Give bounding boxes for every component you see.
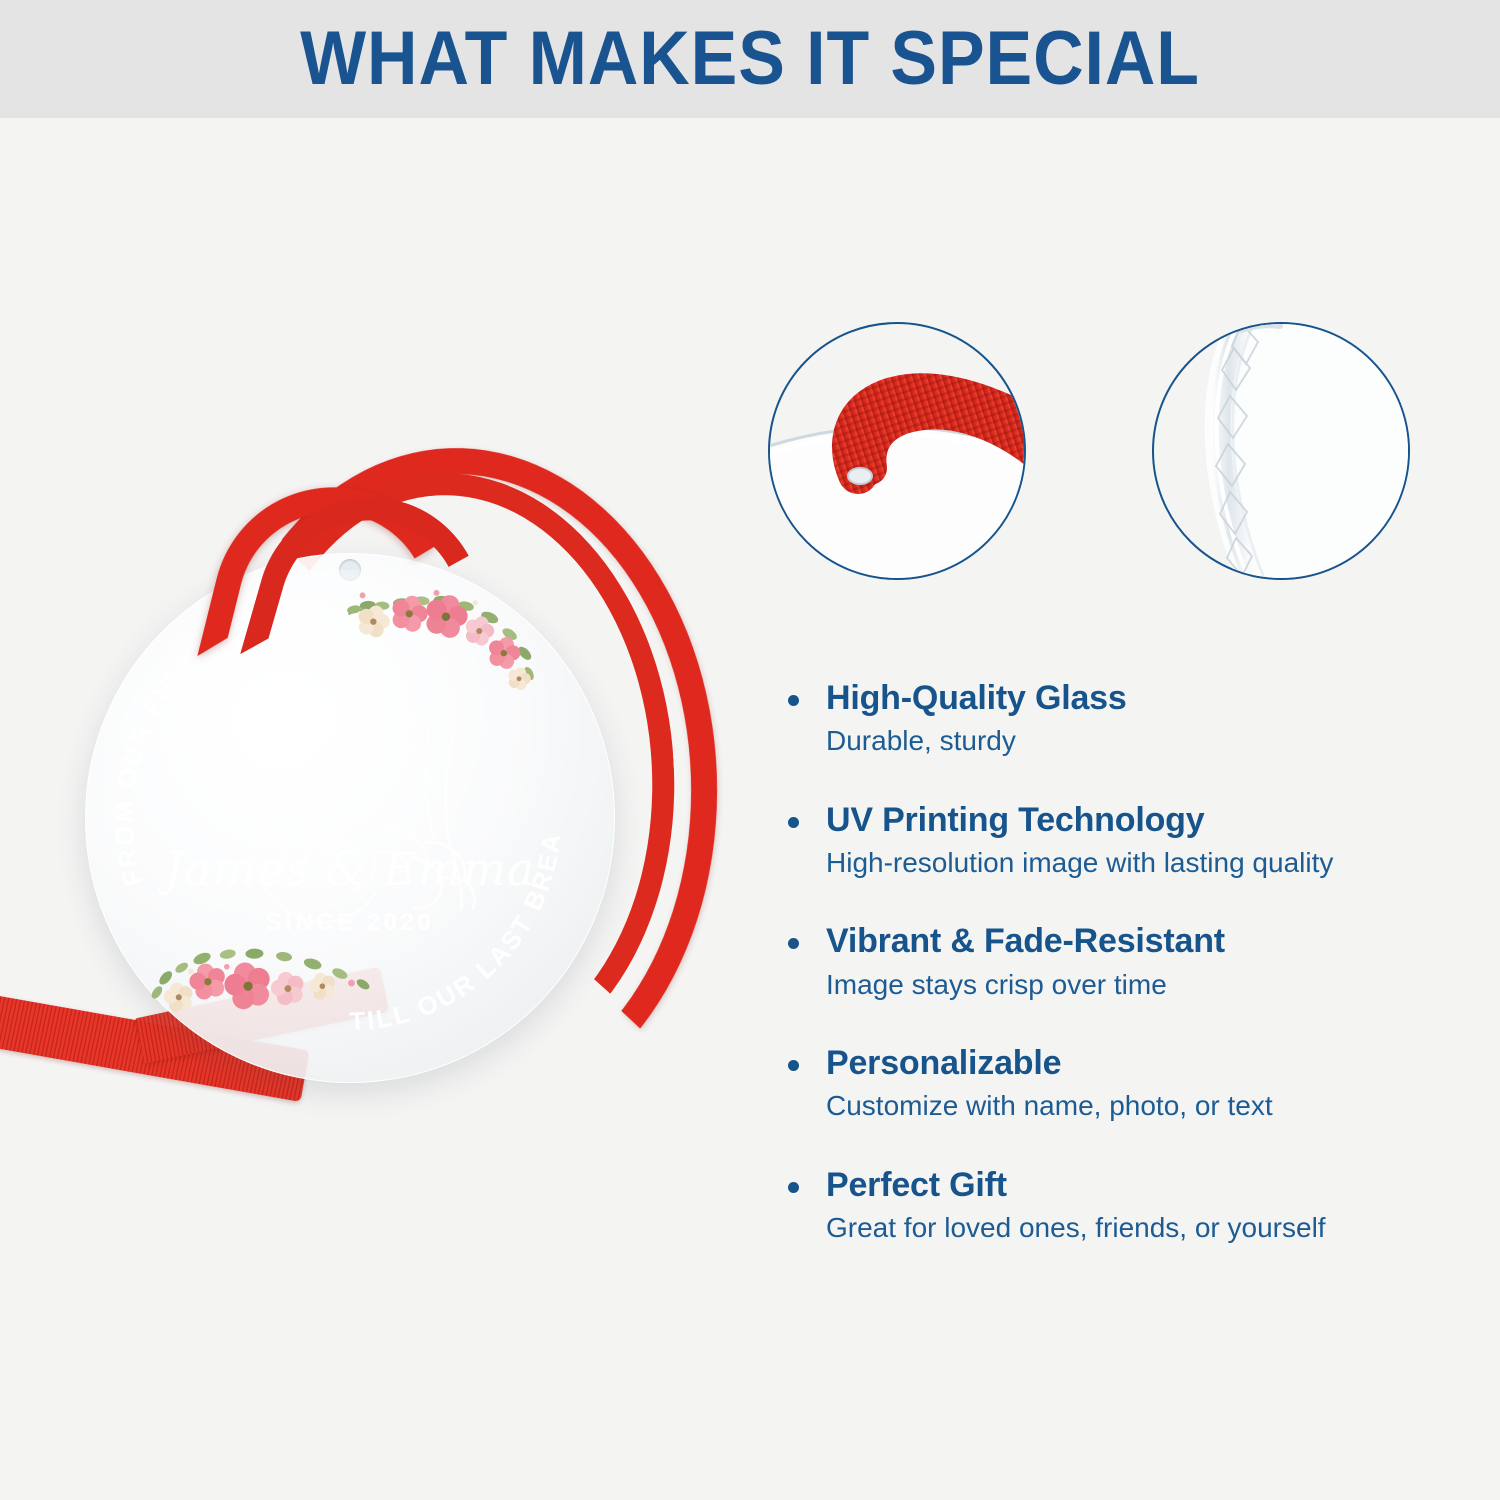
feature-title: Perfect Gift <box>826 1165 1472 1205</box>
ornament-since: SINCE 2020 <box>85 911 615 935</box>
bullet-icon <box>788 1182 799 1193</box>
bullet-icon <box>788 695 799 706</box>
feature-item-high-quality-glass: High-Quality Glass Durable, sturdy <box>782 678 1472 758</box>
feature-desc: Customize with name, photo, or text <box>826 1089 1472 1123</box>
feature-title: High-Quality Glass <box>826 678 1472 718</box>
ornament-names: James & Emma <box>85 846 615 892</box>
feature-desc: Durable, sturdy <box>826 724 1472 758</box>
detail-circle-edge <box>1152 322 1410 580</box>
feature-item-uv-printing-technology: UV Printing Technology High-resolution i… <box>782 800 1472 880</box>
ribbon-detail-icon <box>770 324 1024 578</box>
bullet-icon <box>788 817 799 828</box>
feature-title: Personalizable <box>826 1043 1472 1083</box>
feature-list: High-Quality Glass Durable, sturdy UV Pr… <box>782 678 1472 1245</box>
glass-edge-detail-icon <box>1154 324 1408 578</box>
feature-item-vibrant-fade-resistant: Vibrant & Fade-Resistant Image stays cri… <box>782 921 1472 1001</box>
feature-desc: Great for loved ones, friends, or yourse… <box>826 1211 1472 1245</box>
detail-circle-ribbon <box>768 322 1026 580</box>
product-photo: FROM OUR FIRST KISS TILL OUR LAST BREATH <box>0 118 740 1500</box>
feature-item-personalizable: Personalizable Customize with name, phot… <box>782 1043 1472 1123</box>
feature-item-perfect-gift: Perfect Gift Great for loved ones, frien… <box>782 1165 1472 1245</box>
feature-title: Vibrant & Fade-Resistant <box>826 921 1472 961</box>
feature-title: UV Printing Technology <box>826 800 1472 840</box>
header-band: WHAT MAKES IT SPECIAL <box>0 0 1500 118</box>
bullet-icon <box>788 1060 799 1071</box>
feature-desc: Image stays crisp over time <box>826 968 1472 1002</box>
feature-desc: High-resolution image with lasting quali… <box>826 846 1472 880</box>
page-title: WHAT MAKES IT SPECIAL <box>300 21 1200 97</box>
bullet-icon <box>788 938 799 949</box>
